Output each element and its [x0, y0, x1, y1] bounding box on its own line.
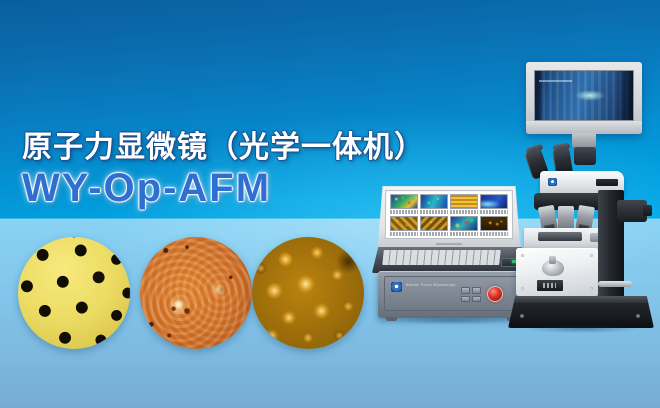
microscope-ground-shadow [500, 324, 660, 337]
instrument-monitor [526, 62, 642, 134]
housing-screw [590, 254, 593, 257]
laptop-bezel-chin [378, 239, 521, 248]
product-model-name: WY-Op-AFM [22, 166, 271, 211]
afm-scanner-stage [524, 228, 608, 250]
scan-thumb-image [450, 194, 478, 209]
stage-translation-rod [598, 281, 632, 287]
afm-scanner-housing [516, 248, 598, 296]
controller-port-cluster [461, 287, 481, 302]
scan-thumb-8 [480, 216, 508, 236]
scan-thumb-caption [390, 232, 418, 236]
sample-slot [538, 232, 582, 241]
scan-thumb-5 [390, 216, 418, 236]
column-arm-module [617, 200, 647, 222]
scan-thumb-caption [480, 210, 508, 214]
base-screw [636, 314, 640, 318]
granite-top-surface [508, 296, 654, 303]
scan-thumb-caption [450, 210, 478, 214]
afm-sample-image-nanoporous-array [18, 237, 130, 349]
scan-thumb-3 [450, 194, 478, 214]
brand-logo-icon [391, 282, 402, 292]
monitor-screen-view [534, 70, 634, 121]
housing-screw [590, 287, 593, 290]
laptop-logo [436, 243, 462, 245]
head-nameplate [596, 179, 618, 186]
laptop-keyboard-keys [382, 250, 501, 265]
laptop-lid [378, 186, 521, 248]
housing-screw [521, 287, 524, 290]
scan-thumb-image [450, 216, 478, 231]
scan-thumb-caption [420, 232, 448, 236]
afm-sample-image-gold-nanograins [252, 237, 364, 349]
scan-thumb-caption [420, 210, 448, 214]
scan-thumb-2 [420, 194, 448, 214]
housing-screw [521, 254, 524, 257]
scanner-nameplate [537, 280, 563, 291]
scan-thumb-6 [420, 216, 448, 236]
controller-front-panel: Atomic Force Microscope [384, 276, 520, 311]
scan-thumb-caption [480, 232, 508, 236]
scan-thumb-7 [450, 216, 478, 236]
controller-port [461, 287, 470, 294]
scan-thumb-image [390, 216, 418, 231]
camera-port [574, 147, 596, 165]
brand-logo-icon [548, 178, 557, 186]
scan-thumb-caption [450, 232, 478, 236]
product-banner: 原子力显微镜（光学一体机） WY-Op-AFM Atomic Force Mic… [0, 0, 660, 408]
base-screw [520, 314, 524, 318]
controller-port [472, 287, 481, 294]
afm-controller-box: Atomic Force Microscope [378, 271, 526, 318]
scan-thumb-4 [480, 194, 508, 214]
scan-thumb-image [480, 194, 508, 209]
product-title-chinese: 原子力显微镜（光学一体机） [22, 122, 425, 166]
scan-thumb-caption [390, 210, 418, 214]
scan-thumb-image [480, 216, 508, 231]
scan-thumb-image [420, 216, 448, 231]
controller-port [472, 296, 481, 303]
controller-port [461, 296, 470, 303]
laptop-keyboard-base [372, 247, 528, 273]
controller-brand-text: Atomic Force Microscope [406, 283, 456, 287]
scan-thumb-1 [390, 194, 418, 214]
afm-sample-image-spiral-growth-surface [140, 237, 252, 349]
power-knob-icon [487, 286, 503, 302]
focus-dial-knob [542, 260, 564, 276]
scan-thumb-image [390, 194, 418, 209]
scan-thumb-image [420, 194, 448, 209]
laptop-screen [385, 190, 513, 239]
